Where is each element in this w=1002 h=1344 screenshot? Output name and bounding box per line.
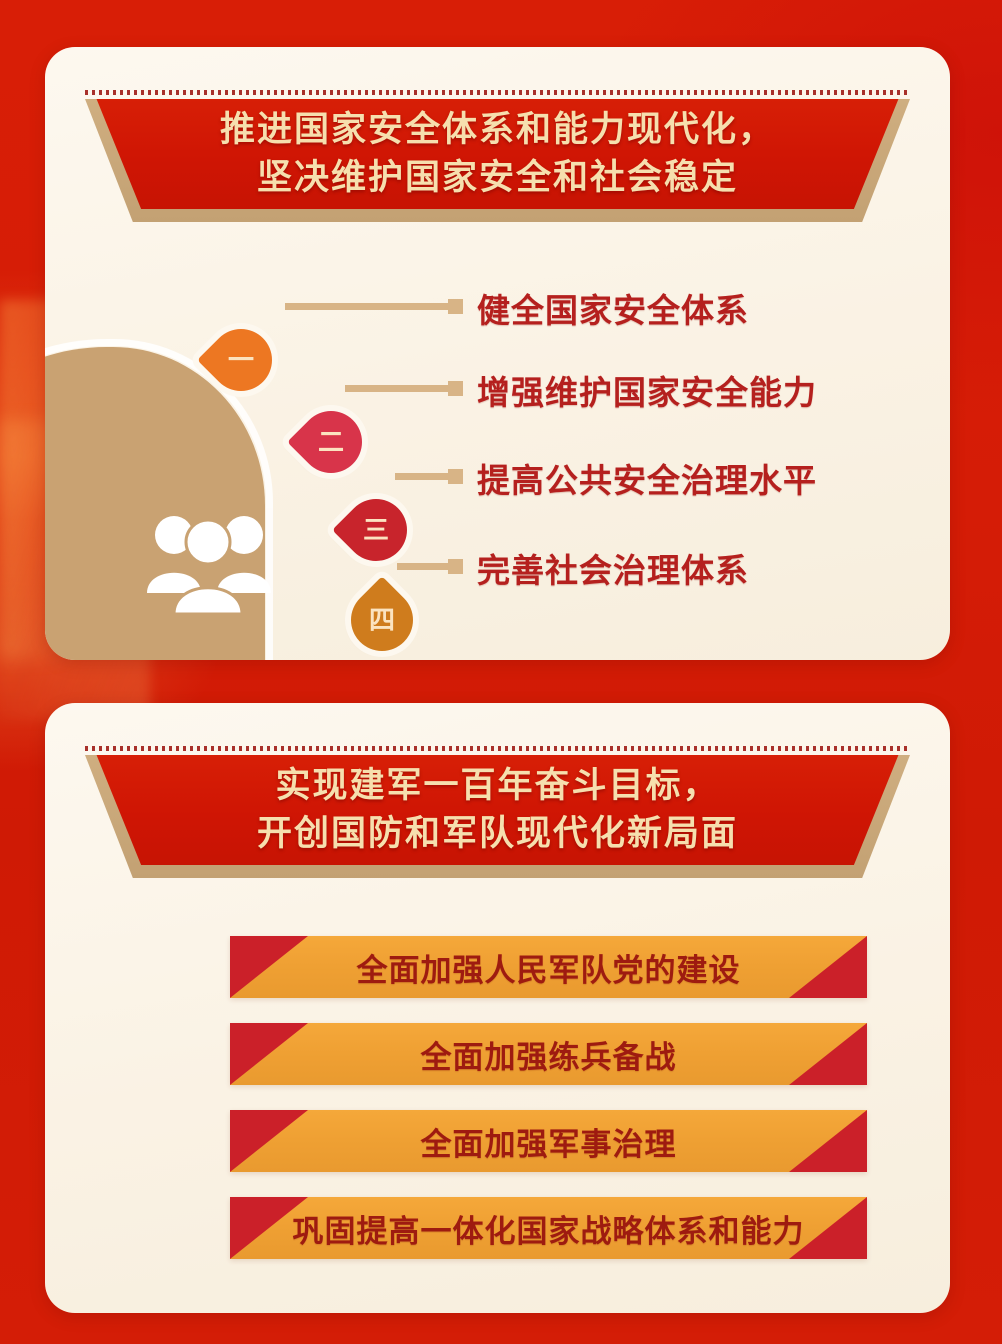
banner-red-face-2: 实现建军一百年奋斗目标， 开创国防和军队现代化新局面 xyxy=(85,755,910,865)
pin-marker-3[interactable]: 三 xyxy=(332,486,420,574)
bar-wedge-left-1 xyxy=(230,936,308,998)
pin-label-4: 四 xyxy=(369,607,395,633)
pin-label-2: 二 xyxy=(318,429,344,455)
bar-wedge-left-3 xyxy=(230,1110,308,1172)
military-bar-1[interactable]: 全面加强人民军队党的建设 xyxy=(230,936,867,998)
pin-label-1: 一 xyxy=(228,347,254,373)
banner-military-goal: 实现建军一百年奋斗目标， 开创国防和军队现代化新局面 xyxy=(85,755,910,878)
military-bar-label-3: 全面加强军事治理 xyxy=(421,1119,677,1164)
military-bar-label-2: 全面加强练兵备战 xyxy=(421,1032,677,1077)
bar-wedge-left-2 xyxy=(230,1023,308,1085)
banner-red-face: 推进国家安全体系和能力现代化， 坚决维护国家安全和社会稳定 xyxy=(85,99,910,209)
security-item-label-3: 提高公共安全治理水平 xyxy=(477,454,817,502)
people-group-icon xyxy=(143,509,273,627)
banner-title-line-2-card2: 开创国防和军队现代化新局面 xyxy=(257,810,738,858)
military-bar-4[interactable]: 巩固提高一体化国家战略体系和能力 xyxy=(230,1197,867,1259)
connector-line-3 xyxy=(395,473,460,480)
banner-dotted-rule-top xyxy=(85,90,910,95)
pin-label-3: 三 xyxy=(363,517,389,543)
connector-line-4 xyxy=(397,563,460,570)
bar-wedge-right-1 xyxy=(789,936,867,998)
pin-marker-4[interactable]: 四 xyxy=(338,576,426,660)
pin-marker-2[interactable]: 二 xyxy=(287,398,375,486)
security-item-label-2: 增强维护国家安全能力 xyxy=(477,366,817,414)
bar-wedge-right-2 xyxy=(789,1023,867,1085)
connector-line-1 xyxy=(285,303,460,310)
military-bar-2[interactable]: 全面加强练兵备战 xyxy=(230,1023,867,1085)
security-item-label-4: 完善社会治理体系 xyxy=(477,544,749,592)
card-military-modernization: 实现建军一百年奋斗目标， 开创国防和军队现代化新局面 全面加强人民军队党的建设 … xyxy=(45,703,950,1313)
banner-national-security: 推进国家安全体系和能力现代化， 坚决维护国家安全和社会稳定 xyxy=(85,99,910,222)
card-national-security: 推进国家安全体系和能力现代化， 坚决维护国家安全和社会稳定 一 二 三 四 健全… xyxy=(45,47,950,660)
banner-title-line-2: 坚决维护国家安全和社会稳定 xyxy=(257,154,738,202)
security-item-label-1: 健全国家安全体系 xyxy=(477,284,749,332)
bar-wedge-right-3 xyxy=(789,1110,867,1172)
connector-line-2 xyxy=(345,385,460,392)
military-bar-label-4: 巩固提高一体化国家战略体系和能力 xyxy=(293,1206,805,1251)
banner-title-line-1: 推进国家安全体系和能力现代化， xyxy=(220,106,775,154)
military-bar-3[interactable]: 全面加强军事治理 xyxy=(230,1110,867,1172)
infographic-page: { "theme": { "background_red": "#d81e06"… xyxy=(0,0,1002,1344)
banner-title-line-1-card2: 实现建军一百年奋斗目标， xyxy=(275,762,719,810)
banner-dotted-rule-top-2 xyxy=(85,746,910,751)
military-bar-label-1: 全面加强人民军队党的建设 xyxy=(357,945,741,990)
